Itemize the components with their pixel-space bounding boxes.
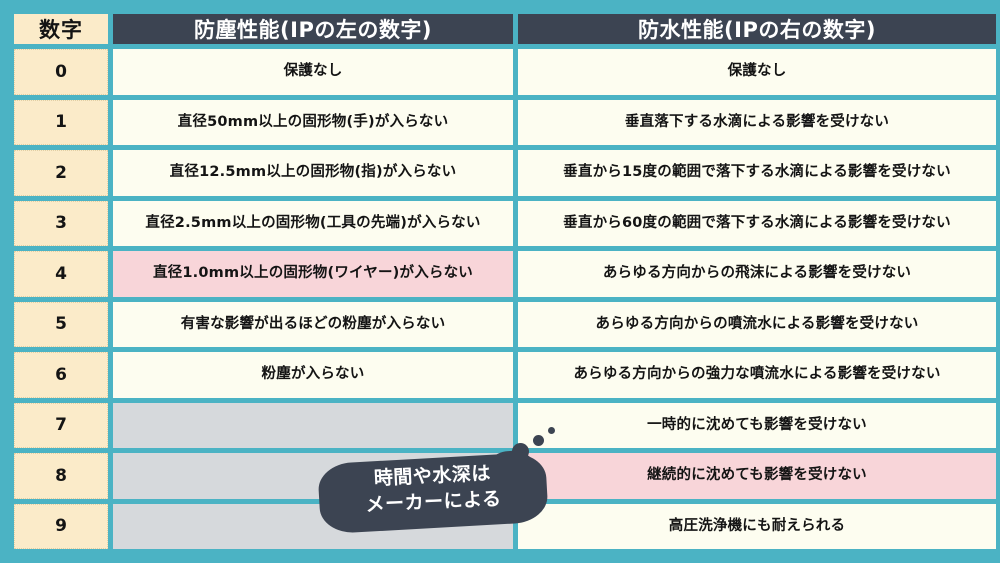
header-row: 数字 防塵性能(IPの左の数字) 防水性能(IPの右の数字) (14, 14, 996, 44)
water-description: あらゆる方向からの強力な噴流水による影響を受けない (518, 352, 996, 398)
water-description: 高圧洗浄機にも耐えられる (518, 504, 996, 550)
table-row: 0 保護なし 保護なし (14, 49, 996, 95)
dust-description: 直径2.5mm以上の固形物(工具の先端)が入らない (113, 201, 513, 247)
row-number: 4 (14, 251, 108, 297)
header-water-protection: 防水性能(IPの右の数字) (518, 14, 996, 44)
row-number: 6 (14, 352, 108, 398)
row-number: 8 (14, 453, 108, 499)
table-row: 3 直径2.5mm以上の固形物(工具の先端)が入らない 垂直から60度の範囲で落… (14, 201, 996, 247)
table-row: 8 継続的に沈めても影響を受けない (14, 453, 996, 499)
infographic-canvas: 数字 防塵性能(IPの左の数字) 防水性能(IPの右の数字) 0 保護なし 保護… (0, 0, 1000, 563)
dust-description: 保護なし (113, 49, 513, 95)
dust-description-unavailable (113, 504, 513, 550)
row-number: 7 (14, 403, 108, 449)
water-description: 垂直から60度の範囲で落下する水滴による影響を受けない (518, 201, 996, 247)
water-description: あらゆる方向からの噴流水による影響を受けない (518, 302, 996, 348)
dust-description: 有害な影響が出るほどの粉塵が入らない (113, 302, 513, 348)
dust-description: 粉塵が入らない (113, 352, 513, 398)
water-description: 一時的に沈めても影響を受けない (518, 403, 996, 449)
row-number: 2 (14, 150, 108, 196)
table-body: 0 保護なし 保護なし 1 直径50mm以上の固形物(手)が入らない 垂直落下す… (14, 49, 996, 549)
water-description: 継続的に沈めても影響を受けない (518, 453, 996, 499)
row-number: 0 (14, 49, 108, 95)
header-number: 数字 (14, 14, 108, 44)
dust-description: 直径1.0mm以上の固形物(ワイヤー)が入らない (113, 251, 513, 297)
dust-description-unavailable (113, 453, 513, 499)
header-dust-protection: 防塵性能(IPの左の数字) (113, 14, 513, 44)
dust-description: 直径50mm以上の固形物(手)が入らない (113, 100, 513, 146)
table-row: 1 直径50mm以上の固形物(手)が入らない 垂直落下する水滴による影響を受けな… (14, 100, 996, 146)
row-number: 1 (14, 100, 108, 146)
water-description: 垂直から15度の範囲で落下する水滴による影響を受けない (518, 150, 996, 196)
water-description: 垂直落下する水滴による影響を受けない (518, 100, 996, 146)
table-header: 数字 防塵性能(IPの左の数字) 防水性能(IPの右の数字) (14, 14, 996, 44)
table-row: 9 高圧洗浄機にも耐えられる (14, 504, 996, 550)
water-description: あらゆる方向からの飛沫による影響を受けない (518, 251, 996, 297)
row-number: 9 (14, 504, 108, 550)
water-description: 保護なし (518, 49, 996, 95)
table-row: 4 直径1.0mm以上の固形物(ワイヤー)が入らない あらゆる方向からの飛沫によ… (14, 251, 996, 297)
table-row: 7 一時的に沈めても影響を受けない (14, 403, 996, 449)
dust-description: 直径12.5mm以上の固形物(指)が入らない (113, 150, 513, 196)
row-number: 3 (14, 201, 108, 247)
table-row: 5 有害な影響が出るほどの粉塵が入らない あらゆる方向からの噴流水による影響を受… (14, 302, 996, 348)
row-number: 5 (14, 302, 108, 348)
ip-rating-table: 数字 防塵性能(IPの左の数字) 防水性能(IPの右の数字) 0 保護なし 保護… (9, 9, 1000, 554)
table-row: 2 直径12.5mm以上の固形物(指)が入らない 垂直から15度の範囲で落下する… (14, 150, 996, 196)
table-row: 6 粉塵が入らない あらゆる方向からの強力な噴流水による影響を受けない (14, 352, 996, 398)
dust-description-unavailable (113, 403, 513, 449)
